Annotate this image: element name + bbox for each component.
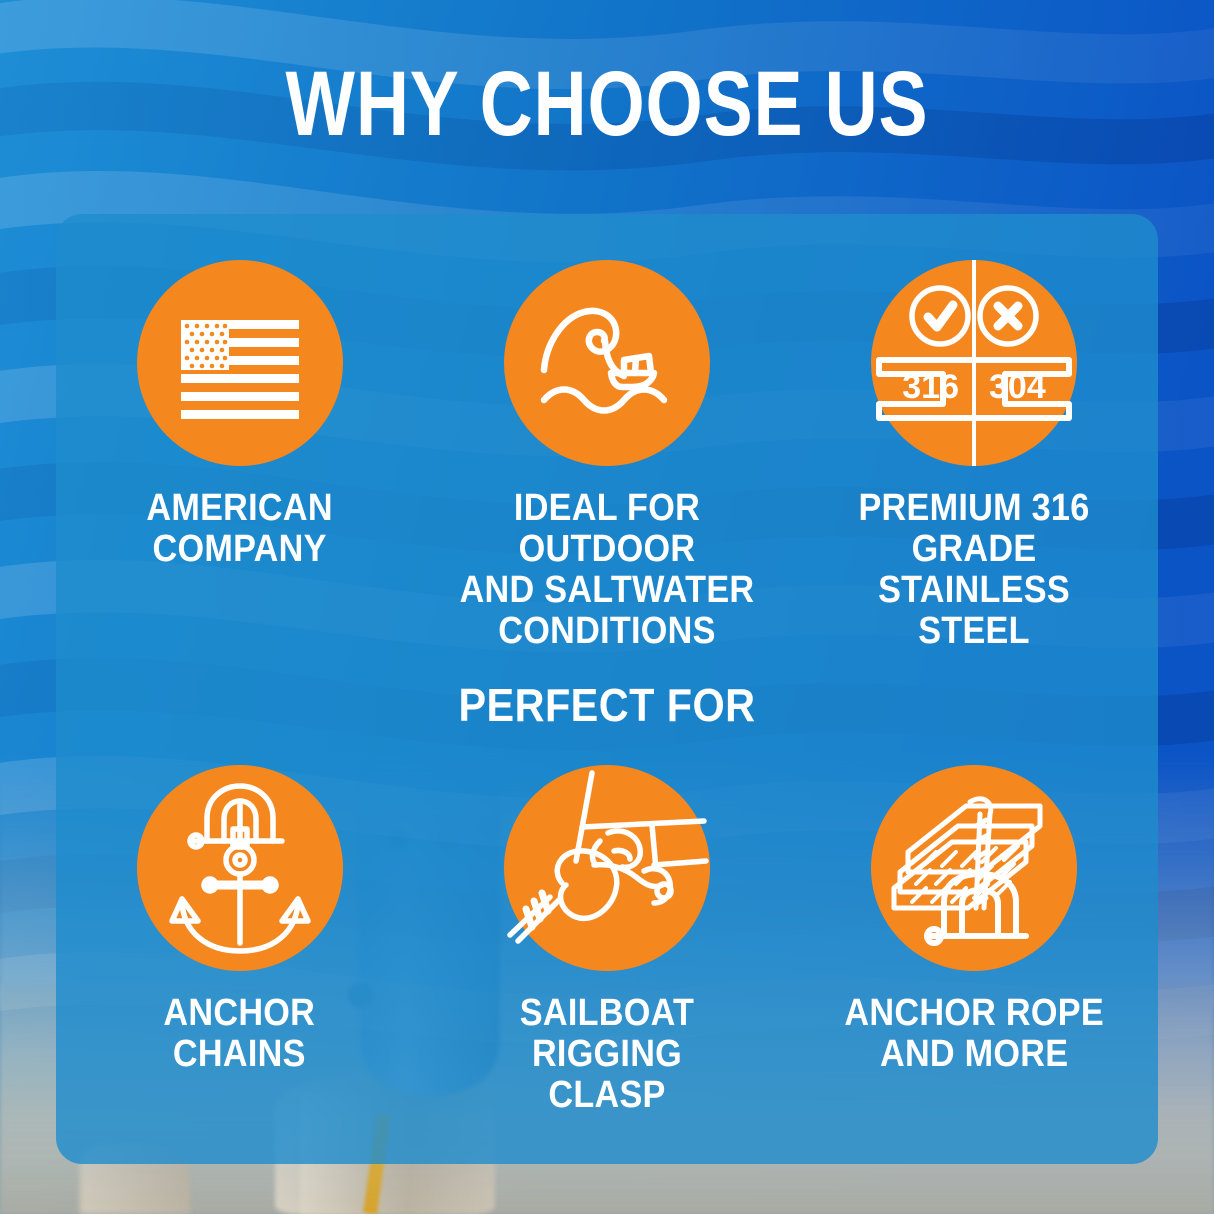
check-icon [928, 305, 953, 327]
steel-grade-316-label: 316 [903, 368, 960, 406]
icon-circle-anchor-chains[interactable] [137, 765, 343, 971]
feature-row-perfect-for: ANCHOR CHAINS [56, 765, 1158, 1116]
section-heading-perfect-for: PERFECT FOR [61, 680, 1154, 730]
icon-circle-sailboat-rigging-clasp[interactable] [504, 765, 710, 971]
hand-holding-snap-shackle-icon [504, 765, 710, 971]
feature-label-anchor-rope-and-more: ANCHOR ROPE AND MORE [845, 993, 1104, 1075]
coiled-rope-with-shackle-icon [886, 780, 1062, 956]
icon-circle-american-company[interactable] [137, 260, 343, 466]
feature-row-why-choose-us: AMERICAN COMPANY IDEAL [56, 260, 1158, 652]
icon-circle-premium-316-steel[interactable]: 316 304 [871, 260, 1077, 466]
close-icon [998, 306, 1018, 326]
feature-sailboat-rigging-clasp[interactable]: SAILBOAT RIGGING CLASP [437, 765, 777, 1116]
icon-circle-outdoor-saltwater[interactable] [504, 260, 710, 466]
feature-anchor-rope-and-more[interactable]: ANCHOR ROPE AND MORE [804, 765, 1144, 1075]
anchor-with-shackle-icon [160, 781, 320, 956]
steel-grade-304-label: 304 [989, 368, 1046, 406]
wave-with-boat-icon [532, 288, 682, 438]
page-title: WHY CHOOSE US [121, 58, 1092, 150]
feature-label-american-company: AMERICAN COMPANY [146, 488, 332, 570]
feature-american-company[interactable]: AMERICAN COMPANY [70, 260, 410, 570]
icon-circle-anchor-rope-and-more[interactable] [871, 765, 1077, 971]
feature-label-sailboat-rigging-clasp: SAILBOAT RIGGING CLASP [454, 993, 760, 1116]
american-flag-icon [167, 290, 313, 436]
feature-label-premium-316-steel: PREMIUM 316 GRADE STAINLESS STEEL [821, 488, 1127, 652]
feature-outdoor-saltwater[interactable]: IDEAL FOR OUTDOOR AND SALTWATER CONDITIO… [437, 260, 777, 652]
steel-grade-comparison-icon: 316 304 [871, 260, 1077, 466]
feature-label-outdoor-saltwater: IDEAL FOR OUTDOOR AND SALTWATER CONDITIO… [454, 488, 760, 652]
feature-premium-316-steel[interactable]: 316 304 PREMIUM 316 GRADE STAINLESS STEE… [804, 260, 1144, 652]
feature-anchor-chains[interactable]: ANCHOR CHAINS [70, 765, 410, 1075]
feature-label-anchor-chains: ANCHOR CHAINS [164, 993, 316, 1075]
